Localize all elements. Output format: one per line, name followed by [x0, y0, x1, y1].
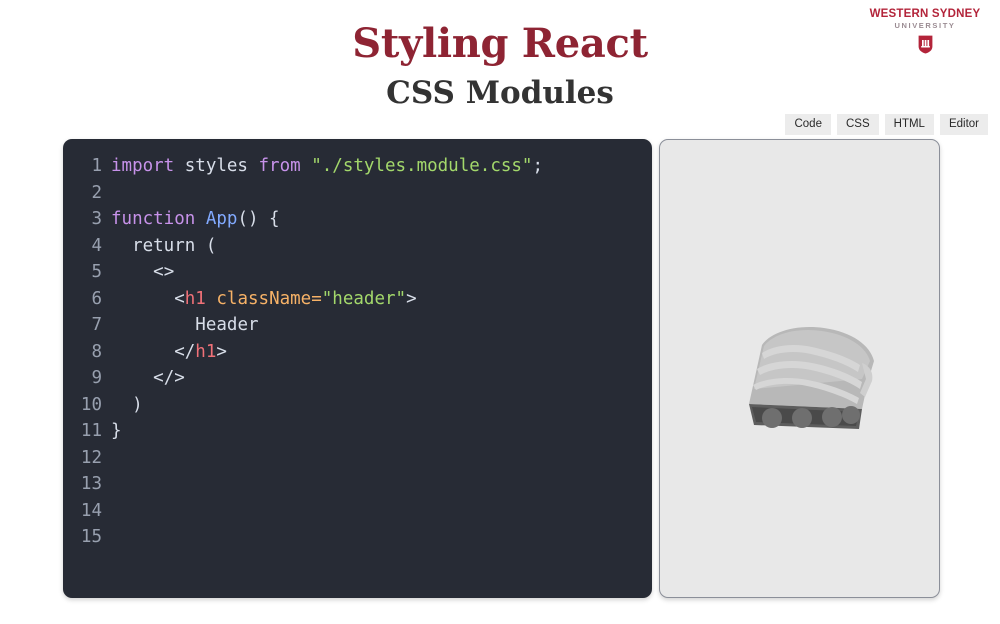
- code-line[interactable]: 12: [63, 445, 652, 472]
- line-number: 5: [77, 259, 111, 286]
- code-line-content[interactable]: ): [111, 392, 652, 419]
- code-token: Header: [111, 315, 259, 335]
- code-token: ): [111, 395, 143, 415]
- code-token: [206, 289, 217, 309]
- line-number: 15: [77, 524, 111, 551]
- code-token: return (: [111, 236, 216, 256]
- code-line[interactable]: 2: [63, 180, 652, 207]
- code-line-content[interactable]: [111, 445, 652, 472]
- line-number: 14: [77, 498, 111, 525]
- header: Styling React CSS Modules WESTERN SYDNEY…: [0, 0, 1000, 136]
- code-line[interactable]: 11}: [63, 418, 652, 445]
- page-subtitle: CSS Modules: [0, 78, 1000, 109]
- code-line[interactable]: 14: [63, 498, 652, 525]
- line-number: 2: [77, 180, 111, 207]
- code-line[interactable]: 7 Header: [63, 312, 652, 339]
- code-line-content[interactable]: Header: [111, 312, 652, 339]
- code-token: [195, 209, 206, 229]
- logo-wordmark-bottom: UNIVERSITY: [862, 21, 988, 30]
- code-line[interactable]: 8 </h1>: [63, 339, 652, 366]
- code-token: }: [111, 421, 122, 441]
- line-number: 8: [77, 339, 111, 366]
- code-line-content[interactable]: </>: [111, 365, 652, 392]
- code-token: <>: [111, 262, 174, 282]
- university-logo: WESTERN SYDNEY UNIVERSITY: [862, 8, 988, 59]
- code-line-content[interactable]: [111, 471, 652, 498]
- code-token: =: [311, 289, 322, 309]
- code-token: from: [259, 156, 301, 176]
- code-line[interactable]: 13: [63, 471, 652, 498]
- code-line-content[interactable]: [111, 498, 652, 525]
- code-line-content[interactable]: return (: [111, 233, 652, 260]
- code-token: styles: [174, 156, 258, 176]
- code-token: "header": [322, 289, 406, 309]
- line-number: 7: [77, 312, 111, 339]
- code-line-content[interactable]: <>: [111, 259, 652, 286]
- code-token: import: [111, 156, 174, 176]
- code-line[interactable]: 4 return (: [63, 233, 652, 260]
- code-token: <: [111, 289, 185, 309]
- code-line[interactable]: 10 ): [63, 392, 652, 419]
- line-number: 12: [77, 445, 111, 472]
- code-line[interactable]: 15: [63, 524, 652, 551]
- line-number: 13: [77, 471, 111, 498]
- code-line-content[interactable]: }: [111, 418, 652, 445]
- code-token: App: [206, 209, 238, 229]
- code-line-content[interactable]: [111, 180, 652, 207]
- code-token: >: [216, 342, 227, 362]
- line-number: 11: [77, 418, 111, 445]
- code-token: >: [406, 289, 417, 309]
- line-number: 4: [77, 233, 111, 260]
- code-token: function: [111, 209, 195, 229]
- code-token: "./styles.module.css": [311, 156, 532, 176]
- code-line-content[interactable]: <h1 className="header">: [111, 286, 652, 313]
- tab-code[interactable]: Code: [785, 114, 831, 135]
- line-number: 9: [77, 365, 111, 392]
- code-editor-panel[interactable]: 1import styles from "./styles.module.css…: [63, 139, 652, 598]
- code-token: h1: [195, 342, 216, 362]
- tab-bar[interactable]: Code CSS HTML Editor: [785, 114, 988, 135]
- code-line[interactable]: 6 <h1 className="header">: [63, 286, 652, 313]
- line-number: 6: [77, 286, 111, 313]
- code-token: () {: [237, 209, 279, 229]
- code-token: ;: [532, 156, 543, 176]
- shield-icon: [918, 35, 933, 54]
- code-token: </: [111, 342, 195, 362]
- code-line[interactable]: 9 </>: [63, 365, 652, 392]
- line-number: 10: [77, 392, 111, 419]
- code-line[interactable]: 3function App() {: [63, 206, 652, 233]
- code-line-content[interactable]: function App() {: [111, 206, 652, 233]
- pie-slice-image: [702, 301, 898, 437]
- code-lines[interactable]: 1import styles from "./styles.module.css…: [63, 153, 652, 551]
- tab-html[interactable]: HTML: [885, 114, 934, 135]
- tab-editor[interactable]: Editor: [940, 114, 988, 135]
- code-line[interactable]: 5 <>: [63, 259, 652, 286]
- code-token: className: [216, 289, 311, 309]
- code-token: </>: [111, 368, 185, 388]
- code-line-content[interactable]: </h1>: [111, 339, 652, 366]
- code-line-content[interactable]: import styles from "./styles.module.css"…: [111, 153, 652, 180]
- code-line-content[interactable]: [111, 524, 652, 551]
- title-block: Styling React CSS Modules: [0, 24, 1000, 109]
- tab-css[interactable]: CSS: [837, 114, 879, 135]
- preview-panel: [659, 139, 940, 598]
- line-number: 1: [77, 153, 111, 180]
- code-token: h1: [185, 289, 206, 309]
- page-title: Styling React: [0, 24, 1000, 64]
- logo-wordmark-top: WESTERN SYDNEY: [862, 8, 988, 20]
- line-number: 3: [77, 206, 111, 233]
- code-token: [301, 156, 312, 176]
- code-line[interactable]: 1import styles from "./styles.module.css…: [63, 153, 652, 180]
